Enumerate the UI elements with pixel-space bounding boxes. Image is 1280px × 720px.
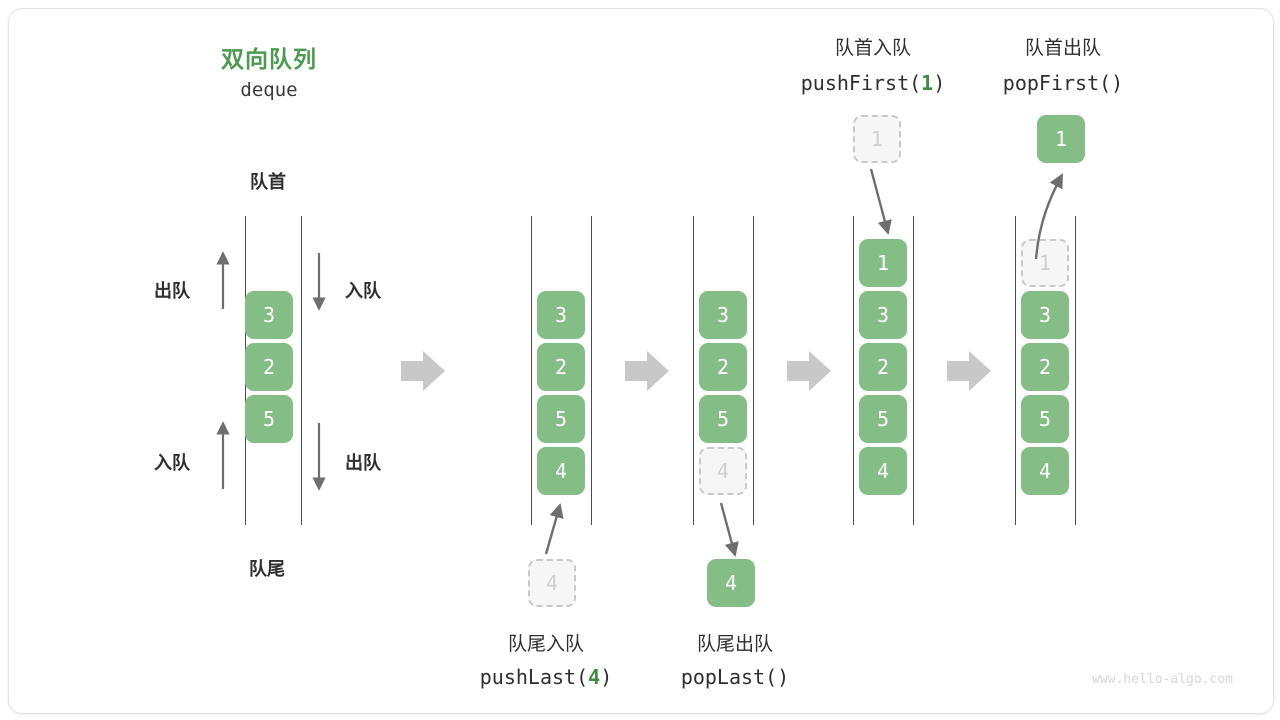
column-rail-left-5	[1015, 216, 1016, 525]
op-code-push-first: pushFirst(1)	[801, 71, 946, 95]
step-arrow-1	[401, 351, 445, 391]
deque-cell: 3	[1021, 291, 1069, 339]
floating-cell-pop-last-result: 4	[707, 559, 755, 607]
deque-cell: 5	[1021, 395, 1069, 443]
column-rail-right-5	[1075, 216, 1076, 525]
op-code-pop-last-name: popLast(	[681, 665, 777, 689]
deque-cell: 5	[859, 395, 907, 443]
deque-cell: 5	[245, 395, 293, 443]
op-code-push-last: pushLast(4)	[480, 665, 612, 689]
deque-cell: 1	[859, 239, 907, 287]
deque-cell: 2	[699, 343, 747, 391]
floating-cell-push-first-source: 1	[853, 115, 901, 163]
deque-cell-ghost: 4	[699, 447, 747, 495]
column-rail-right-4	[913, 216, 914, 525]
op-code-push-first-name: pushFirst(	[801, 71, 921, 95]
deque-cell: 2	[1021, 343, 1069, 391]
step-arrow-2	[625, 351, 669, 391]
label-enqueue-front: 入队	[345, 277, 381, 303]
deque-cell-ghost: 1	[1021, 239, 1069, 287]
step-arrow-3	[787, 351, 831, 391]
deque-cell: 3	[699, 291, 747, 339]
deque-cell: 4	[859, 447, 907, 495]
column-rail-right-3	[753, 216, 754, 525]
deque-cell: 2	[537, 343, 585, 391]
deque-cell: 3	[245, 291, 293, 339]
op-code-pop-first-tail: )	[1111, 71, 1123, 95]
deque-cell: 3	[859, 291, 907, 339]
label-dequeue-rear: 出队	[345, 449, 381, 475]
label-queue-front: 队首	[250, 168, 286, 194]
op-label-push-first: 队首入队	[835, 33, 911, 60]
op-code-pop-last-tail: )	[777, 665, 789, 689]
label-enqueue-rear: 入队	[154, 449, 190, 475]
floating-cell-push-last-source: 4	[528, 559, 576, 607]
deque-cell: 4	[537, 447, 585, 495]
op-code-push-last-name: pushLast(	[480, 665, 588, 689]
deque-cell: 5	[699, 395, 747, 443]
column-rail-right-1	[301, 216, 302, 525]
column-rail-left-2	[531, 216, 532, 525]
deque-cell: 2	[859, 343, 907, 391]
op-code-push-last-tail: )	[600, 665, 612, 689]
deque-cell: 3	[537, 291, 585, 339]
deque-cell: 5	[537, 395, 585, 443]
arrow-overlay	[9, 9, 1273, 713]
arrow-push-last	[546, 505, 560, 554]
op-label-pop-first: 队首出队	[1025, 33, 1101, 60]
floating-cell-pop-first-result: 1	[1037, 115, 1085, 163]
op-label-pop-last: 队尾出队	[697, 629, 773, 656]
label-dequeue-front: 出队	[154, 277, 190, 303]
op-code-pop-first-name: popFirst(	[1003, 71, 1111, 95]
deque-cell: 4	[1021, 447, 1069, 495]
deque-cell: 2	[245, 343, 293, 391]
arrow-pop-last	[721, 503, 735, 555]
op-code-push-first-arg: 1	[921, 71, 933, 95]
column-rail-right-2	[591, 216, 592, 525]
column-rail-left-3	[693, 216, 694, 525]
watermark: www.hello-algo.com	[1092, 672, 1233, 687]
op-code-pop-last: popLast()	[681, 665, 789, 689]
page-subtitle: deque	[240, 79, 297, 101]
label-queue-rear: 队尾	[249, 555, 285, 581]
column-rail-left-4	[853, 216, 854, 525]
arrow-push-first	[871, 169, 888, 233]
op-code-push-last-arg: 4	[588, 665, 600, 689]
op-label-push-last: 队尾入队	[508, 629, 584, 656]
diagram-card: 双向队列 deque 队首入队 pushFirst(1) 队首出队 popFir…	[8, 8, 1274, 714]
page-title: 双向队列	[221, 40, 317, 74]
op-code-push-first-tail: )	[933, 71, 945, 95]
diagram-stage: 双向队列 deque 队首入队 pushFirst(1) 队首出队 popFir…	[9, 9, 1273, 713]
step-arrow-4	[947, 351, 991, 391]
op-code-pop-first: popFirst()	[1003, 71, 1123, 95]
